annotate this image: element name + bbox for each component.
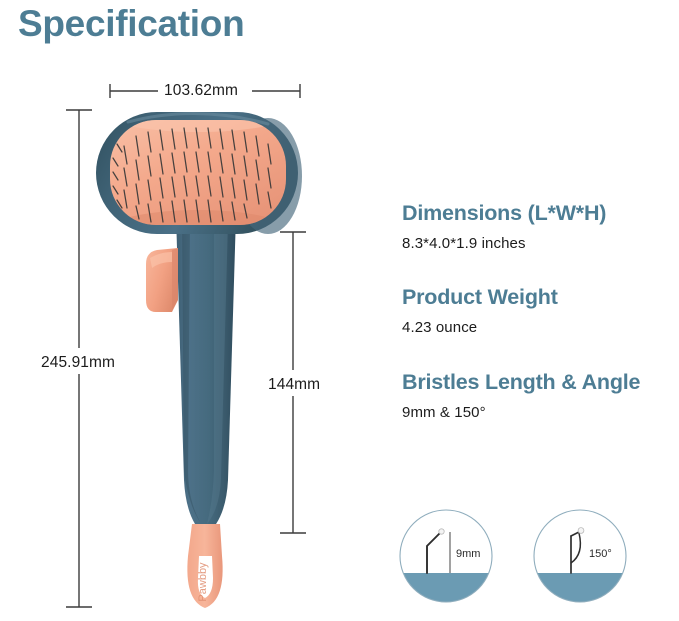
bristle-length-diagram: 9mm xyxy=(396,506,496,606)
spec-title-bristles: Bristles Length & Angle xyxy=(402,369,674,396)
hanging-strap: Pawbby xyxy=(187,524,222,608)
spec-item-product-weight: Product Weight 4.23 ounce xyxy=(402,284,674,337)
spec-value-product-weight: 4.23 ounce xyxy=(402,318,674,338)
bristle-angle-diagram: 150° xyxy=(530,506,630,606)
spec-title-dimensions: Dimensions (L*W*H) xyxy=(402,200,674,227)
spec-value-bristles: 9mm & 150° xyxy=(402,403,674,423)
bristle-diagrams: 9mm 150° xyxy=(396,506,636,608)
skin-surface-fill xyxy=(530,573,630,606)
spec-value-dimensions: 8.3*4.0*1.9 inches xyxy=(402,234,674,254)
bristle-angle-label: 150° xyxy=(589,548,612,560)
dimension-label-width: 103.62mm xyxy=(160,82,242,100)
bristle-length-label: 9mm xyxy=(456,548,480,560)
dimension-label-total-height: 245.91mm xyxy=(38,352,118,374)
bristle-tip xyxy=(578,528,584,534)
specification-list: Dimensions (L*W*H) 8.3*4.0*1.9 inches Pr… xyxy=(402,200,674,453)
spec-item-dimensions: Dimensions (L*W*H) 8.3*4.0*1.9 inches xyxy=(402,200,674,253)
spec-title-product-weight: Product Weight xyxy=(402,284,674,311)
dimension-label-handle-height: 144mm xyxy=(265,374,323,396)
bristle-tip xyxy=(439,529,444,534)
product-handle xyxy=(176,215,236,536)
product-illustration: Pawbby 103.62mm 245.91mm 144mm xyxy=(0,0,390,621)
specification-page: Specification xyxy=(0,0,679,621)
strap-brand-text: Pawbby xyxy=(197,562,209,602)
skin-surface-fill xyxy=(396,573,496,606)
retract-button[interactable] xyxy=(146,248,178,312)
spec-item-bristles: Bristles Length & Angle 9mm & 150° xyxy=(402,369,674,422)
